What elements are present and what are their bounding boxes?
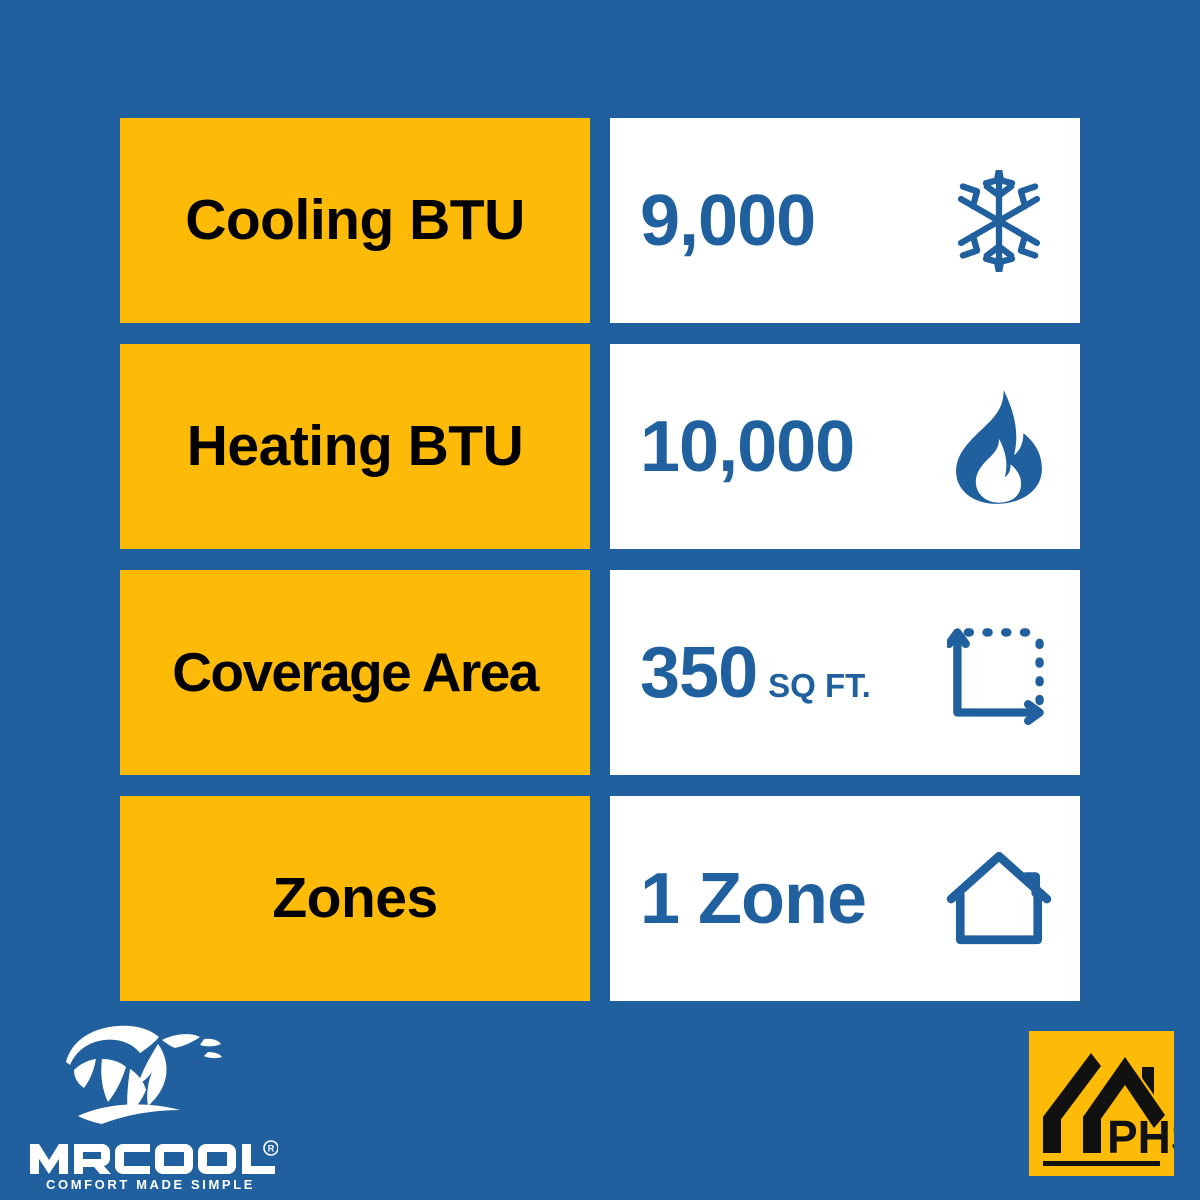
spec-label-cell-cooling-btu: Cooling BTU: [120, 118, 590, 323]
spec-value-cell-coverage-area: 350 SQ FT.: [610, 570, 1080, 775]
spec-value: 10,000: [640, 411, 854, 483]
spec-value: 9,000: [640, 185, 815, 257]
svg-text:R: R: [268, 1144, 275, 1154]
table-row: Coverage Area 350 SQ FT.: [120, 570, 1080, 775]
spec-label: Zones: [272, 870, 437, 927]
spec-label: Cooling BTU: [185, 192, 525, 249]
snowflake-icon: [944, 166, 1054, 276]
flame-icon: [944, 392, 1054, 502]
mrcool-wordmark: R COMFORT MADE SIMPLE: [28, 1140, 278, 1197]
spec-table: Cooling BTU 9,000: [120, 118, 1080, 1022]
table-row: Zones 1 Zone: [120, 796, 1080, 1001]
area-measure-icon: [944, 618, 1054, 728]
spec-label-cell-coverage-area: Coverage Area: [120, 570, 590, 775]
mrcool-tagline: COMFORT MADE SIMPLE: [46, 1177, 255, 1192]
spec-value-unit: SQ FT.: [768, 669, 871, 702]
phs-wordmark: PHS: [1107, 1111, 1174, 1163]
spec-sheet: Cooling BTU 9,000: [0, 0, 1200, 1200]
spec-value-cell-heating-btu: 10,000: [610, 344, 1080, 549]
table-row: Cooling BTU 9,000: [120, 118, 1080, 323]
spec-value-number: 9,000: [640, 185, 815, 257]
table-row: Heating BTU 10,000: [120, 344, 1080, 549]
mrcool-logo: R COMFORT MADE SIMPLE: [28, 1022, 288, 1194]
phs-logo: PHS: [1029, 1031, 1174, 1176]
spec-label: Heating BTU: [187, 418, 524, 475]
spec-value: 1 Zone: [640, 863, 866, 935]
spec-value-number: 1 Zone: [640, 863, 866, 935]
spec-value-cell-zones: 1 Zone: [610, 796, 1080, 1001]
spec-label: Coverage Area: [172, 645, 537, 700]
spec-value: 350 SQ FT.: [640, 637, 871, 709]
spec-value-number: 10,000: [640, 411, 854, 483]
spec-value-cell-cooling-btu: 9,000: [610, 118, 1080, 323]
spec-label-cell-heating-btu: Heating BTU: [120, 344, 590, 549]
polar-bear-icon: [58, 1022, 238, 1139]
spec-label-cell-zones: Zones: [120, 796, 590, 1001]
spec-value-number: 350: [640, 637, 757, 709]
house-icon: [944, 844, 1054, 954]
